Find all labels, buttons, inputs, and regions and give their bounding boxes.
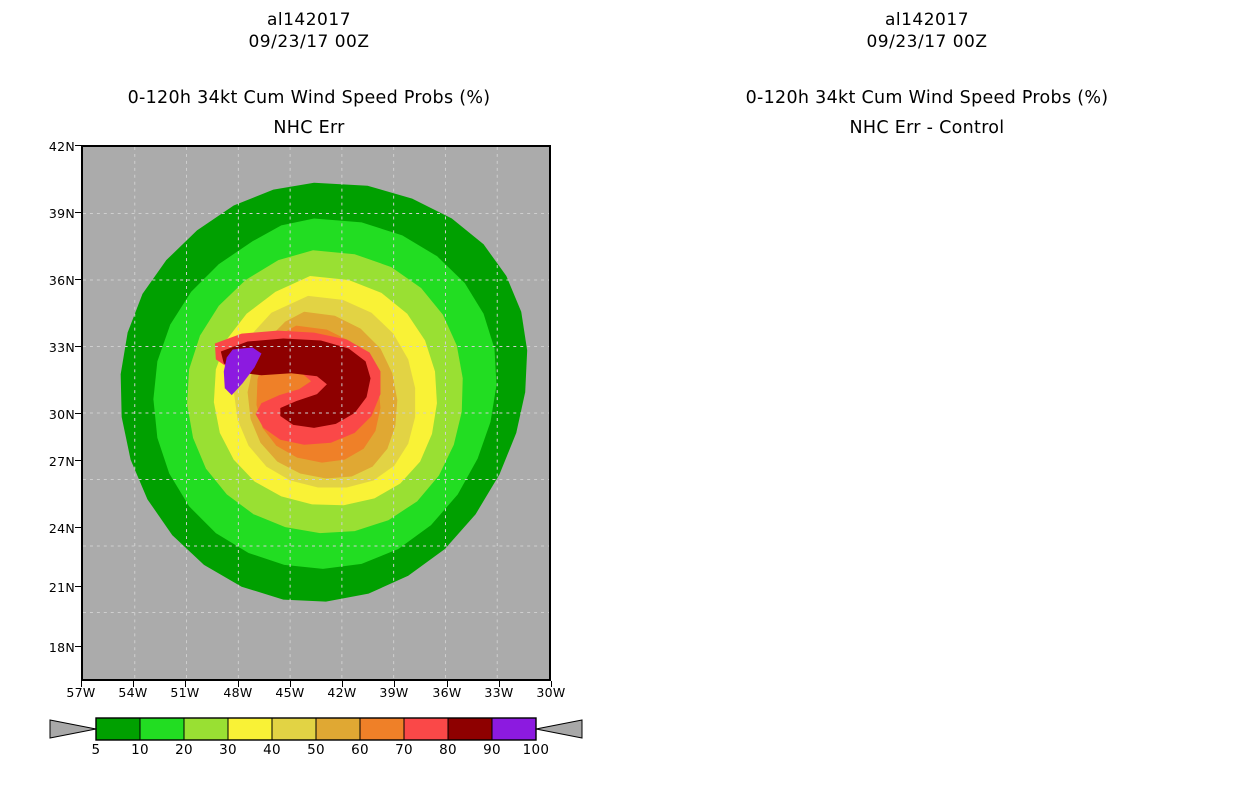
left-colorbar-swatch-4 xyxy=(272,718,316,740)
left-colorbar-tick-0: 5 xyxy=(71,742,121,758)
colorbar-extend-low-left xyxy=(50,720,96,738)
left-colorbar-swatch-8 xyxy=(448,718,492,740)
left-colorbar-tick-1: 10 xyxy=(115,742,165,758)
left-colorbar-tick-4: 40 xyxy=(247,742,297,758)
left-ytick-4: 30N xyxy=(31,407,75,422)
left-colorbar-swatch-9 xyxy=(492,718,536,740)
left-colorbar-tick-9: 90 xyxy=(467,742,517,758)
right-title-main: 0-120h 34kt Cum Wind Speed Probs (%) xyxy=(618,88,1236,108)
left-title-sub: NHC Err xyxy=(0,118,618,138)
left-colorbar-swatch-3 xyxy=(228,718,272,740)
left-xtick-0: 57W xyxy=(61,685,101,700)
left-colorbar-tick-3: 30 xyxy=(203,742,253,758)
left-colorbar xyxy=(96,718,536,740)
right-date-label: 09/23/17 00Z xyxy=(618,32,1236,52)
left-storm-id: al142017 xyxy=(0,10,618,30)
left-title-main: 0-120h 34kt Cum Wind Speed Probs (%) xyxy=(0,88,618,108)
left-ytick-2: 36N xyxy=(31,273,75,288)
left-xtick-7: 36W xyxy=(427,685,467,700)
left-ytick-3: 33N xyxy=(31,340,75,355)
left-ytick-0: 42N xyxy=(31,139,75,154)
right-title-sub: NHC Err - Control xyxy=(618,118,1236,138)
left-colorbar-swatch-6 xyxy=(360,718,404,740)
left-xtick-4: 45W xyxy=(270,685,310,700)
left-contour-field xyxy=(83,147,549,679)
left-date-label: 09/23/17 00Z xyxy=(0,32,618,52)
left-xtick-1: 54W xyxy=(113,685,153,700)
left-xtick-5: 42W xyxy=(322,685,362,700)
left-xtick-2: 51W xyxy=(165,685,205,700)
panel-nhc-err-minus-control: al142017 09/23/17 00Z 0-120h 34kt Cum Wi… xyxy=(618,0,1236,800)
left-colorbar-tick-7: 70 xyxy=(379,742,429,758)
panel-nhc-err: al142017 09/23/17 00Z 0-120h 34kt Cum Wi… xyxy=(0,0,618,800)
left-xtick-6: 39W xyxy=(374,685,414,700)
left-ytick-1: 39N xyxy=(31,206,75,221)
left-ytick-8: 18N xyxy=(31,640,75,655)
left-xtick-3: 48W xyxy=(218,685,258,700)
left-ytick-7: 21N xyxy=(31,580,75,595)
left-ytick-6: 24N xyxy=(31,521,75,536)
left-colorbar-tick-2: 20 xyxy=(159,742,209,758)
left-colorbar-swatch-1 xyxy=(140,718,184,740)
left-colorbar-tick-6: 60 xyxy=(335,742,385,758)
left-colorbar-tick-8: 80 xyxy=(423,742,473,758)
left-xtick-8: 33W xyxy=(479,685,519,700)
left-ytick-5: 27N xyxy=(31,454,75,469)
left-colorbar-labels: 5102030405060708090100 xyxy=(96,742,536,760)
right-storm-id: al142017 xyxy=(618,10,1236,30)
left-plot-area xyxy=(81,145,551,681)
left-colorbar-swatch-0 xyxy=(96,718,140,740)
left-colorbar-swatch-2 xyxy=(184,718,228,740)
left-colorbar-tick-5: 50 xyxy=(291,742,341,758)
left-colorbar-swatch-5 xyxy=(316,718,360,740)
left-xtick-9: 30W xyxy=(531,685,571,700)
left-colorbar-tick-10: 100 xyxy=(511,742,561,758)
left-colorbar-swatch-7 xyxy=(404,718,448,740)
colorbar-extend-high-left xyxy=(536,720,582,738)
